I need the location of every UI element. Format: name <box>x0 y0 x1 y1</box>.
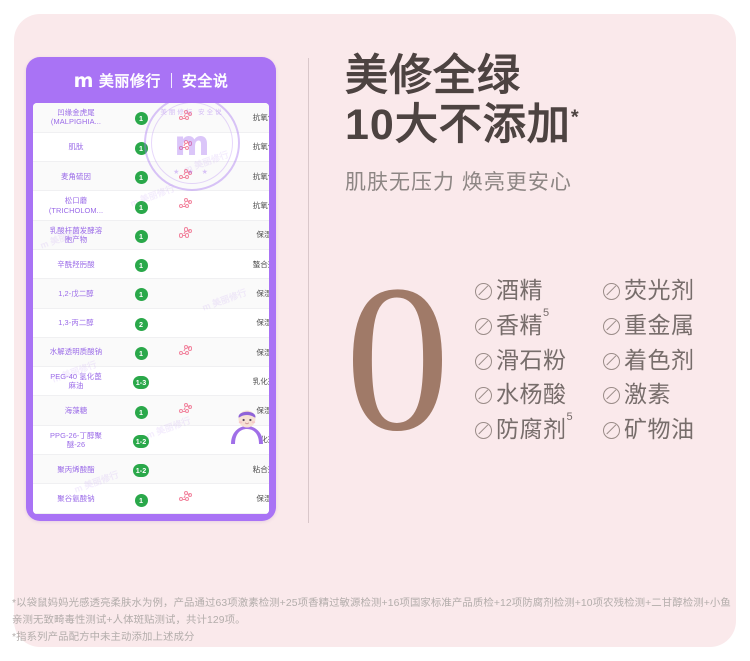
safety-score-cell: 1 <box>119 132 163 161</box>
table-row[interactable]: 1,2-戊二醇1保湿 <box>33 279 269 308</box>
table-row[interactable]: 腺苷1抗痘 <box>33 513 269 514</box>
safety-score-badge: 1-2 <box>133 435 149 448</box>
table-row[interactable]: 水解透明质酸钠1保湿 <box>33 337 269 366</box>
molecule-icon <box>179 139 193 151</box>
ingredient-function: 保湿 <box>239 279 269 308</box>
ingredient-card: m 美丽修行 安全说 美丽修行 安全说 m ★ ★ ★ m 美丽修行 m 美丽修… <box>26 57 276 521</box>
ingredient-name: 1,3-丙二醇 <box>33 308 119 337</box>
safety-score-cell: 1 <box>119 279 163 308</box>
big-zero-numeral: 0 <box>345 254 450 464</box>
ingredient-name: 乳酸杆菌发酵溶胞产物 <box>33 220 119 249</box>
promo-page: m 美丽修行 安全说 美丽修行 安全说 m ★ ★ ★ m 美丽修行 m 美丽修… <box>0 0 750 661</box>
spacer-cell <box>209 279 239 308</box>
ingredient-function: 粘合剂 <box>239 455 269 484</box>
excluded-ingredient-label: 香精 <box>496 313 543 339</box>
table-row[interactable]: 海藻糖1保湿 <box>33 396 269 425</box>
ingredient-function: 乳化剂 <box>239 425 269 454</box>
excluded-ingredient-label: 荧光剂 <box>624 278 695 304</box>
safety-score-cell: 1-3 <box>119 367 163 396</box>
ingredient-name: 海藻糖 <box>33 396 119 425</box>
ingredient-function: 抗痘 <box>239 513 269 514</box>
headline-asterisk: * <box>571 107 580 129</box>
prohibited-icon <box>603 353 620 370</box>
table-row[interactable]: 辛酰羟肟酸1螯合剂 <box>33 249 269 278</box>
ingredient-name: 聚丙烯酸酯 <box>33 455 119 484</box>
ingredient-table: 凹缘金虎尾(MALPIGHIA...1抗氧化肌肽1抗氧化麦角硫因1抗氧化松口蘑(… <box>33 103 269 514</box>
excluded-ingredient-label: 矿物油 <box>624 417 695 443</box>
brand-name: 美丽修行 <box>99 70 161 91</box>
vertical-divider <box>308 58 309 523</box>
molecule-icon <box>179 491 193 503</box>
excluded-ingredient-label: 滑石粉 <box>496 348 567 374</box>
safety-score-badge: 1 <box>135 112 148 125</box>
risk-icon-cell <box>163 484 209 513</box>
zero-additives-block: 0 酒精荧光剂香精5重金属滑石粉着色剂水杨酸激素防腐剂5矿物油 <box>345 272 735 520</box>
brand-subtitle: 安全说 <box>182 70 229 91</box>
prohibited-icon <box>603 318 620 335</box>
spacer-cell <box>209 103 239 132</box>
ingredient-name: 凹缘金虎尾(MALPIGHIA... <box>33 103 119 132</box>
table-row[interactable]: 凹缘金虎尾(MALPIGHIA...1抗氧化 <box>33 103 269 132</box>
table-row[interactable]: 肌肽1抗氧化 <box>33 132 269 161</box>
safety-score-badge: 1 <box>135 230 148 243</box>
spacer-cell <box>209 513 239 514</box>
excluded-ingredient-item: 水杨酸 <box>475 382 603 408</box>
molecule-icon <box>179 344 193 356</box>
molecule-icon <box>179 198 193 210</box>
ingredient-function: 抗氧化 <box>239 132 269 161</box>
table-row[interactable]: 乳酸杆菌发酵溶胞产物1保湿 <box>33 220 269 249</box>
safety-score-badge: 1 <box>135 171 148 184</box>
headline-line-2: 10大不添加 <box>345 101 571 149</box>
ingredient-table-wrap: 美丽修行 安全说 m ★ ★ ★ m 美丽修行 m 美丽修行 m 美丽修行 m … <box>33 103 269 514</box>
excluded-ingredient-label: 重金属 <box>624 313 695 339</box>
spacer-cell <box>209 396 239 425</box>
excluded-ingredient-item: 香精5 <box>475 313 603 339</box>
prohibited-icon <box>475 353 492 370</box>
excluded-ingredient-item: 着色剂 <box>603 348 737 374</box>
safety-score-badge: 1-2 <box>133 464 149 477</box>
table-row[interactable]: PPG-26-丁醇聚醚-261-2乳化剂 <box>33 425 269 454</box>
ingredient-name: PPG-26-丁醇聚醚-26 <box>33 425 119 454</box>
safety-score-cell: 1 <box>119 484 163 513</box>
safety-score-badge: 1 <box>135 201 148 214</box>
safety-score-badge: 1 <box>135 347 148 360</box>
table-row[interactable]: 1,3-丙二醇2保湿 <box>33 308 269 337</box>
excluded-ingredient-label: 着色剂 <box>624 348 695 374</box>
ingredient-name: 麦角硫因 <box>33 162 119 191</box>
excluded-ingredient-item: 滑石粉 <box>475 348 603 374</box>
spacer-cell <box>209 220 239 249</box>
risk-icon-cell <box>163 191 209 220</box>
safety-score-badge: 1 <box>135 142 148 155</box>
headline-line-1: 美修全绿 <box>345 52 725 101</box>
excluded-ingredients-list: 酒精荧光剂香精5重金属滑石粉着色剂水杨酸激素防腐剂5矿物油 <box>475 278 737 443</box>
brand-logo-icon: m <box>74 72 93 91</box>
excluded-ingredient-item: 重金属 <box>603 313 737 339</box>
ingredient-function: 保湿 <box>239 308 269 337</box>
risk-icon-cell <box>163 279 209 308</box>
ingredient-name: PEG-40 氢化蓖麻油 <box>33 367 119 396</box>
table-row[interactable]: 聚丙烯酸酯1-2粘合剂 <box>33 455 269 484</box>
ingredient-name: 肌肽 <box>33 132 119 161</box>
ingredient-name: 聚谷氨酸钠 <box>33 484 119 513</box>
ingredient-function: 抗氧化 <box>239 103 269 132</box>
spacer-cell <box>209 337 239 366</box>
prohibited-icon <box>603 387 620 404</box>
ingredient-function: 保湿 <box>239 337 269 366</box>
safety-score-cell: 1 <box>119 396 163 425</box>
prohibited-icon <box>475 387 492 404</box>
excluded-ingredient-label: 水杨酸 <box>496 382 567 408</box>
prohibited-icon <box>603 283 620 300</box>
ingredient-name: 松口蘑(TRICHOLOM... <box>33 191 119 220</box>
safety-score-badge: 1 <box>135 288 148 301</box>
spacer-cell <box>209 484 239 513</box>
risk-icon-cell <box>163 249 209 278</box>
molecule-icon <box>179 168 193 180</box>
safety-score-cell: 1 <box>119 191 163 220</box>
spacer-cell <box>209 425 239 454</box>
spacer-cell <box>209 191 239 220</box>
ingredient-function: 保湿 <box>239 484 269 513</box>
risk-icon-cell <box>163 220 209 249</box>
spacer-cell <box>209 367 239 396</box>
safety-score-cell: 1 <box>119 337 163 366</box>
ingredient-function: 螯合剂 <box>239 249 269 278</box>
ingredient-function: 保湿 <box>239 396 269 425</box>
table-row[interactable]: 松口蘑(TRICHOLOM...1抗氧化 <box>33 191 269 220</box>
ingredient-name: 1,2-戊二醇 <box>33 279 119 308</box>
risk-icon-cell <box>163 513 209 514</box>
safety-score-cell: 1 <box>119 220 163 249</box>
excluded-ingredient-item: 激素 <box>603 382 737 408</box>
prohibited-icon <box>475 283 492 300</box>
molecule-icon <box>179 109 193 121</box>
table-row[interactable]: 麦角硫因1抗氧化 <box>33 162 269 191</box>
risk-icon-cell <box>163 367 209 396</box>
risk-icon-cell <box>163 162 209 191</box>
safety-score-badge: 1 <box>135 259 148 272</box>
card-header: m 美丽修行 安全说 <box>26 57 276 103</box>
risk-icon-cell <box>163 132 209 161</box>
excluded-ingredient-item: 矿物油 <box>603 417 737 443</box>
ingredient-function: 抗氧化 <box>239 162 269 191</box>
safety-score-badge: 1 <box>135 494 148 507</box>
headline-block: 美修全绿 10大不添加* 肌肤无压力 焕亮更安心 <box>345 52 725 196</box>
spacer-cell <box>209 132 239 161</box>
spacer-cell <box>209 162 239 191</box>
safety-score-cell: 1-2 <box>119 455 163 484</box>
ingredient-name: 腺苷 <box>33 513 119 514</box>
spacer-cell <box>209 249 239 278</box>
safety-score-cell: 1 <box>119 162 163 191</box>
page-subtitle: 肌肤无压力 焕亮更安心 <box>345 166 725 196</box>
risk-icon-cell <box>163 103 209 132</box>
table-row[interactable]: PEG-40 氢化蓖麻油1-3乳化剂 <box>33 367 269 396</box>
spacer-cell <box>209 455 239 484</box>
page-title: 美修全绿 10大不添加* <box>345 52 725 150</box>
ingredient-function: 乳化剂 <box>239 367 269 396</box>
excluded-ingredient-label: 酒精 <box>496 278 543 304</box>
prohibited-icon <box>475 422 492 439</box>
excluded-ingredient-item: 荧光剂 <box>603 278 737 304</box>
risk-icon-cell <box>163 308 209 337</box>
ingredient-function: 抗氧化 <box>239 191 269 220</box>
excluded-ingredient-footnote-marker: 5 <box>543 307 550 319</box>
excluded-ingredient-item: 酒精 <box>475 278 603 304</box>
safety-score-cell: 2 <box>119 308 163 337</box>
prohibited-icon <box>603 422 620 439</box>
footnote-line-2: *指系列产品配方中未主动添加上述成分 <box>12 629 738 646</box>
safety-score-cell: 1 <box>119 249 163 278</box>
risk-icon-cell <box>163 425 209 454</box>
excluded-ingredient-label: 激素 <box>624 382 671 408</box>
safety-score-cell: 1 <box>119 513 163 514</box>
ingredient-name: 水解透明质酸钠 <box>33 337 119 366</box>
table-row[interactable]: 聚谷氨酸钠1保湿 <box>33 484 269 513</box>
risk-icon-cell <box>163 337 209 366</box>
risk-icon-cell <box>163 396 209 425</box>
molecule-icon <box>179 227 193 239</box>
safety-score-cell: 1 <box>119 103 163 132</box>
safety-score-badge: 2 <box>135 318 148 331</box>
headline-line-2-row: 10大不添加* <box>345 101 725 150</box>
excluded-ingredient-item: 防腐剂5 <box>475 417 603 443</box>
brand-divider <box>171 73 172 88</box>
safety-score-badge: 1-3 <box>133 376 149 389</box>
footnote: *以袋鼠妈妈光感透亮柔肤水为例，产品通过63项激素检测+25项香精过敏源检测+1… <box>12 595 738 646</box>
safety-score-cell: 1-2 <box>119 425 163 454</box>
risk-icon-cell <box>163 455 209 484</box>
ingredient-name: 辛酰羟肟酸 <box>33 249 119 278</box>
prohibited-icon <box>475 318 492 335</box>
spacer-cell <box>209 308 239 337</box>
safety-score-badge: 1 <box>135 406 148 419</box>
excluded-ingredient-footnote-marker: 5 <box>567 411 574 423</box>
excluded-ingredient-label: 防腐剂 <box>496 417 567 443</box>
molecule-icon <box>179 403 193 415</box>
footnote-line-1: *以袋鼠妈妈光感透亮柔肤水为例，产品通过63项激素检测+25项香精过敏源检测+1… <box>12 595 738 629</box>
ingredient-function: 保湿 <box>239 220 269 249</box>
